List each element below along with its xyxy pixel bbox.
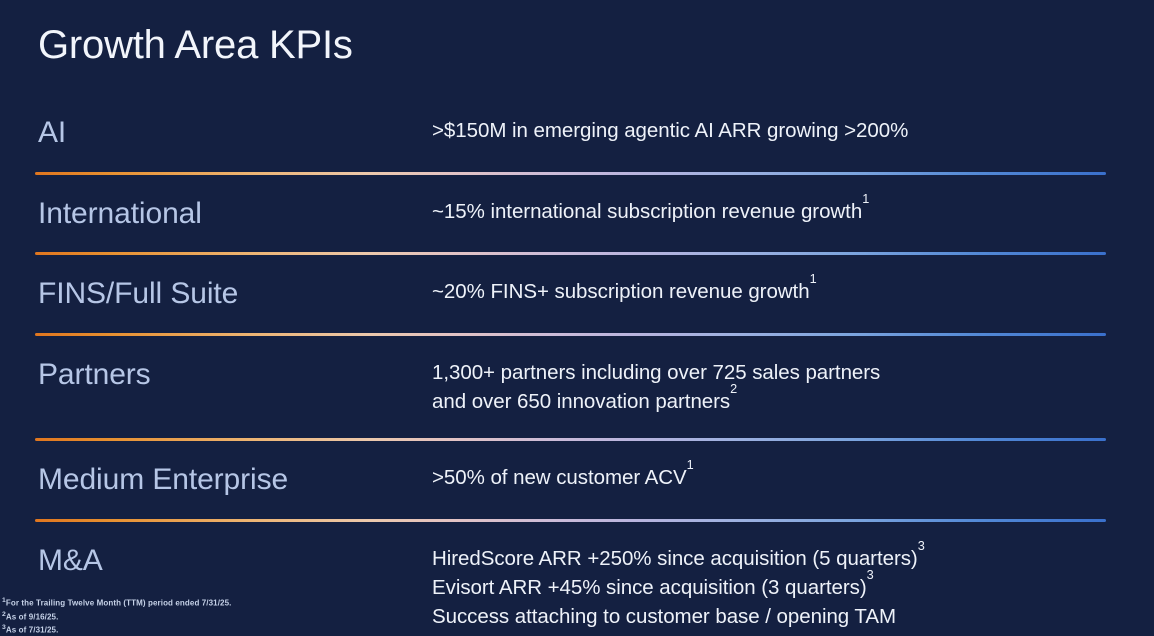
footnote-line: 3As of 7/31/25. (2, 623, 422, 636)
kpi-row: AI>$150M in emerging agentic AI ARR grow… (0, 94, 1154, 175)
row-spacer (0, 175, 1154, 197)
kpi-row: International~15% international subscrip… (0, 175, 1154, 256)
kpi-value-line: 1,300+ partners including over 725 sales… (432, 358, 1114, 387)
row-spacer (0, 336, 1154, 358)
kpi-label: FINS/Full Suite (0, 277, 432, 311)
row-spacer (0, 497, 1154, 519)
slide-root: Growth Area KPIs AI>$150M in emerging ag… (0, 0, 1154, 636)
kpi-row-content: FINS/Full Suite~20% FINS+ subscription r… (0, 277, 1154, 311)
footnotes-block: 1For the Trailing Twelve Month (TTM) per… (0, 596, 422, 636)
kpi-value-line: ~15% international subscription revenue … (432, 197, 1114, 226)
kpi-value-line: >50% of new customer ACV1 (432, 463, 1114, 492)
row-spacer (0, 255, 1154, 277)
footnote-line: 1For the Trailing Twelve Month (TTM) per… (2, 596, 422, 609)
row-spacer (0, 94, 1154, 116)
kpi-table: AI>$150M in emerging agentic AI ARR grow… (0, 94, 1154, 636)
kpi-value-line: Evisort ARR +45% since acquisition (3 qu… (432, 573, 1114, 602)
kpi-label: Partners (0, 358, 432, 392)
kpi-value: ~15% international subscription revenue … (432, 197, 1154, 226)
kpi-label: M&A (0, 544, 432, 578)
row-spacer (0, 441, 1154, 463)
kpi-value: >50% of new customer ACV1 (432, 463, 1154, 492)
row-spacer (0, 230, 1154, 252)
row-spacer (0, 311, 1154, 333)
kpi-value: >$150M in emerging agentic AI ARR growin… (432, 116, 1154, 145)
kpi-label: Medium Enterprise (0, 463, 432, 497)
page-title: Growth Area KPIs (38, 22, 353, 68)
kpi-value-line: and over 650 innovation partners2 (432, 387, 1114, 416)
kpi-row: Medium Enterprise>50% of new customer AC… (0, 441, 1154, 522)
kpi-row-content: Partners1,300+ partners including over 7… (0, 358, 1154, 416)
kpi-value-line: Success attaching to customer base / ope… (432, 602, 1114, 631)
kpi-row-content: AI>$150M in emerging agentic AI ARR grow… (0, 116, 1154, 150)
kpi-value: HiredScore ARR +250% since acquisition (… (432, 544, 1154, 631)
kpi-row: FINS/Full Suite~20% FINS+ subscription r… (0, 255, 1154, 336)
kpi-label: International (0, 197, 432, 231)
footnote-line: 2As of 9/16/25. (2, 610, 422, 623)
row-spacer (0, 150, 1154, 172)
kpi-row: Partners1,300+ partners including over 7… (0, 336, 1154, 441)
row-spacer (0, 522, 1154, 544)
kpi-value: 1,300+ partners including over 725 sales… (432, 358, 1154, 416)
kpi-value-line: HiredScore ARR +250% since acquisition (… (432, 544, 1114, 573)
kpi-value-line: ~20% FINS+ subscription revenue growth1 (432, 277, 1114, 306)
kpi-value-line: >$150M in emerging agentic AI ARR growin… (432, 116, 1114, 145)
kpi-row-content: Medium Enterprise>50% of new customer AC… (0, 463, 1154, 497)
row-spacer (0, 416, 1154, 438)
kpi-label: AI (0, 116, 432, 150)
kpi-row-content: International~15% international subscrip… (0, 197, 1154, 231)
kpi-value: ~20% FINS+ subscription revenue growth1 (432, 277, 1154, 306)
